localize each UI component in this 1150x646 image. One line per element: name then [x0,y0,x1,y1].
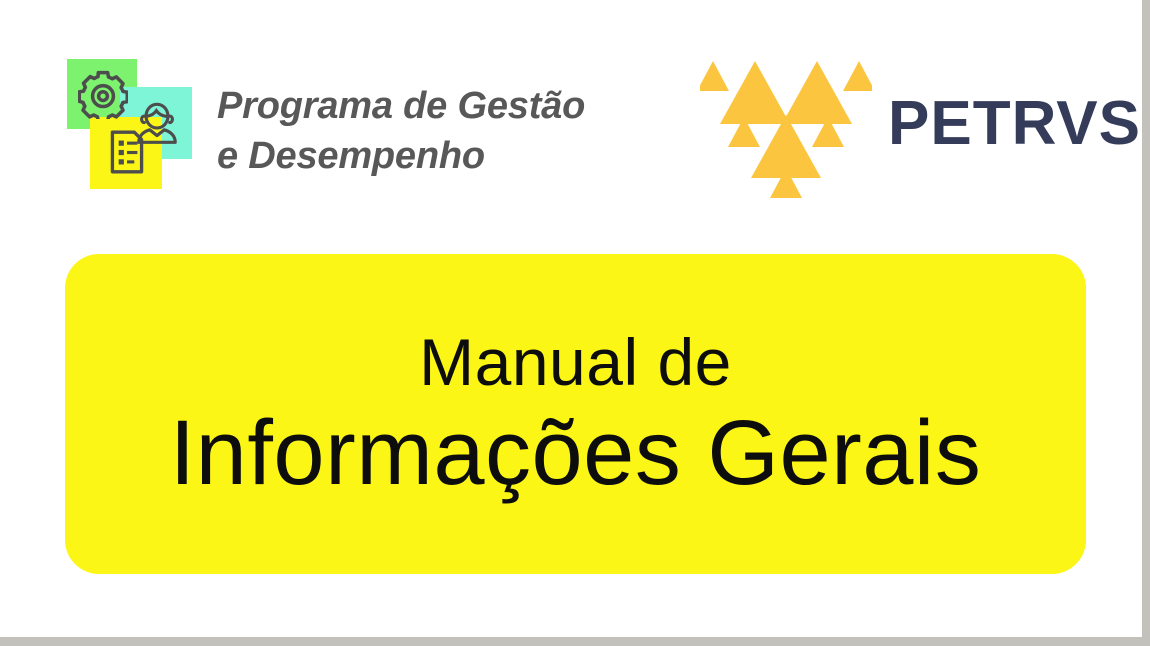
pgd-title-text: Programa de Gestão e Desempenho [217,81,657,181]
gear-icon [78,69,128,119]
petrvs-brand-lockup: PETRVS [700,58,1100,198]
banner-title-line-2: Informações Gerais [170,401,982,505]
pgd-logo-mark [62,55,200,195]
pgd-brand-lockup: Programa de Gestão e Desempenho [62,55,652,195]
frame-edge-bottom [0,637,1150,646]
triangles-icon [700,58,872,198]
title-banner: Manual de Informações Gerais [65,254,1086,574]
frame-edge-right [1142,0,1150,646]
banner-title-line-1: Manual de [419,323,732,401]
petrvs-wordmark: PETRVS [888,93,1141,155]
slide-header: Programa de Gestão e Desempenho [0,0,1142,232]
document-icon [102,127,152,177]
slide-canvas: Programa de Gestão e Desempenho [0,0,1150,646]
